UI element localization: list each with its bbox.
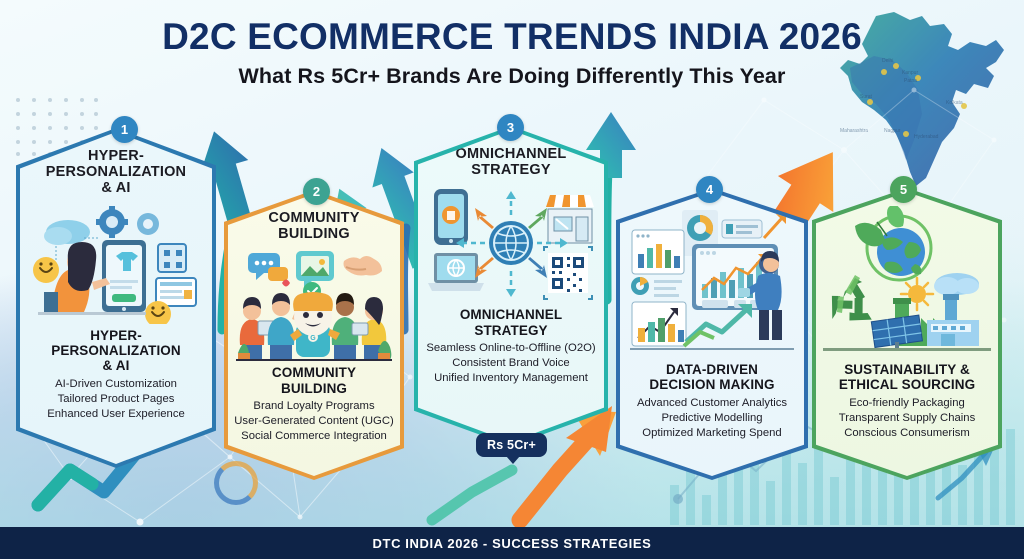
omnichannel-globe-devices-store-qr-illustration bbox=[426, 185, 596, 303]
header: D2C ECOMMERCE TRENDS INDIA 2026 What Rs … bbox=[0, 18, 1024, 89]
green-earth-recycle-solar-factory-illustration bbox=[821, 206, 993, 356]
panel-data-driven-decision-making[interactable]: DATA-DRIVEN DECISION MAKING Advanced Cus… bbox=[616, 188, 808, 480]
panel-badge-2: 2 bbox=[303, 178, 330, 205]
panel-3-top-title: OMNICHANNEL STRATEGY bbox=[456, 146, 567, 178]
rs-5cr-badge-label: Rs 5Cr+ bbox=[487, 438, 536, 452]
woman-tablet-ai-personalization-illustration bbox=[28, 204, 204, 324]
panel-badge-1-number: 1 bbox=[121, 122, 128, 137]
infographic-canvas: DelhiKanpurPatna SuratKolkataNagpur Hyde… bbox=[0, 0, 1024, 559]
panel-2-title: COMMUNITY BUILDING bbox=[272, 365, 356, 396]
footer-banner: DTC INDIA 2026 - SUCCESS STRATEGIES bbox=[0, 527, 1024, 559]
footer-label: DTC INDIA 2026 - SUCCESS STRATEGIES bbox=[373, 536, 652, 551]
page-title: D2C ECOMMERCE TRENDS INDIA 2026 bbox=[0, 18, 1024, 57]
panel-5-bullets: Eco-friendly Packaging Transparent Suppl… bbox=[839, 396, 975, 441]
panel-badge-1: 1 bbox=[111, 116, 138, 143]
panel-3-title: OMNICHANNEL STRATEGY bbox=[460, 307, 562, 338]
panel-2-bullets: Brand Loyalty Programs User-Generated Co… bbox=[234, 399, 393, 444]
panel-1-bullets: AI-Driven Customization Tailored Product… bbox=[47, 377, 185, 422]
panel-badge-3: 3 bbox=[497, 114, 524, 141]
panel-badge-5-number: 5 bbox=[900, 182, 907, 197]
panel-2-top-title: COMMUNITY BUILDING bbox=[268, 210, 359, 242]
page-subtitle: What Rs 5Cr+ Brands Are Doing Differentl… bbox=[0, 64, 1024, 89]
panel-4-bullets: Advanced Customer Analytics Predictive M… bbox=[637, 396, 787, 441]
panel-badge-2-number: 2 bbox=[313, 184, 320, 199]
growth-arrow-green-bottom bbox=[432, 470, 512, 520]
panel-badge-4: 4 bbox=[696, 176, 723, 203]
panel-3-bullets: Seamless Online-to-Offline (O2O) Consist… bbox=[426, 341, 595, 386]
panel-1-title: HYPER-PERSONALIZATION & AI bbox=[30, 328, 202, 374]
panel-badge-5: 5 bbox=[890, 176, 917, 203]
panel-4-title: DATA-DRIVEN DECISION MAKING bbox=[649, 362, 774, 393]
community-group-mascot-illustration: G bbox=[234, 249, 394, 361]
analyst-dashboard-charts-illustration bbox=[626, 206, 798, 356]
panel-hyper-personalization[interactable]: HYPER- PERSONALIZATION & AI bbox=[16, 128, 216, 468]
panel-1-top-title: HYPER- PERSONALIZATION & AI bbox=[46, 148, 186, 197]
panel-badge-3-number: 3 bbox=[507, 120, 514, 135]
panel-community-building[interactable]: COMMUNITY BUILDING bbox=[224, 190, 404, 480]
panel-omnichannel-strategy[interactable]: OMNICHANNEL STRATEGY bbox=[414, 126, 608, 446]
panel-5-title: SUSTAINABILITY & ETHICAL SOURCING bbox=[839, 362, 975, 393]
rs-5cr-badge: Rs 5Cr+ bbox=[476, 433, 547, 457]
panel-sustainability-ethical-sourcing[interactable]: SUSTAINABILITY & ETHICAL SOURCING Eco-fr… bbox=[812, 188, 1002, 480]
svg-text:G: G bbox=[310, 335, 316, 342]
panel-badge-4-number: 4 bbox=[706, 182, 713, 197]
